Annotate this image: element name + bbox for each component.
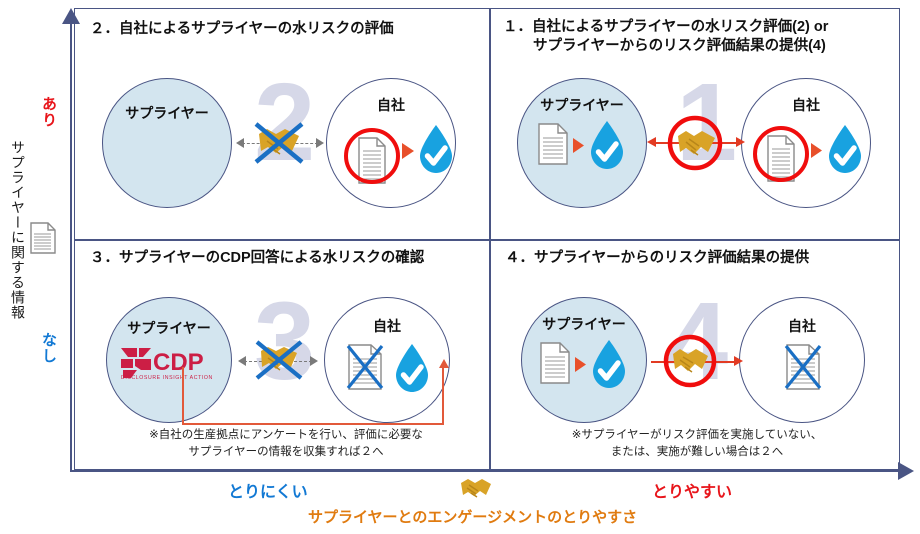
quadrant-2-supplier-circle[interactable]: サプライヤー xyxy=(102,78,232,208)
handshake-circled-icon xyxy=(661,334,719,395)
y-axis-line xyxy=(70,22,72,472)
quadrant-4-own-circle[interactable]: 自社 xyxy=(739,297,865,423)
quadrant-4-footnote-line-1: ※サプライヤーがリスク評価を実施していない、 xyxy=(511,427,883,444)
quadrant-1-title-line-2: サプライヤーからのリスク評価結果の提供(4) xyxy=(533,37,826,57)
quadrant-1-connector-arrow-left xyxy=(647,137,656,147)
quadrant-2-connector-arrow-left xyxy=(236,138,244,148)
handshake-icon xyxy=(456,474,496,511)
quadrant-1-title-line-1: １．自社によるサプライヤーの水リスク評価(2) or xyxy=(503,18,828,38)
quadrant-4-footnote-line-2: または、実施が難しい場合は２へ xyxy=(511,444,883,461)
water-drop-check-icon xyxy=(588,338,630,397)
quadrant-3-footnote-line-1: ※自社の生産拠点にアンケートを行い、評価に必要な xyxy=(100,427,472,444)
quadrant-3-footnote-line-2: サプライヤーの情報を収集すれば２へ xyxy=(100,444,472,461)
quadrant-4-supplier-label: サプライヤー xyxy=(522,314,646,334)
quadrant-3-callout-arrowhead-icon xyxy=(439,359,449,368)
quadrant-2-connector-arrow-right xyxy=(316,138,324,148)
water-drop-check-icon xyxy=(824,123,866,182)
quadrant-3-supplier-label: サプライヤー xyxy=(107,318,231,338)
quadrant-3-title: ３．サプライヤーのCDP回答による水リスクの確認 xyxy=(90,249,424,269)
quadrant-4-title: ４．サプライヤーからのリスク評価結果の提供 xyxy=(505,249,809,269)
quadrant-2-supplier-label: サプライヤー xyxy=(103,103,231,123)
document-icon xyxy=(30,222,56,259)
x-axis-line xyxy=(70,470,902,472)
quadrant-1-supplier-label: サプライヤー xyxy=(518,95,646,115)
document-icon xyxy=(538,123,568,170)
red-arrow-icon xyxy=(810,142,823,164)
quadrant-2-own-circle[interactable]: 自社 xyxy=(326,78,456,208)
x-axis-right-label: とりやすい xyxy=(652,478,732,502)
quadrant-1-supplier-circle[interactable]: サプライヤー xyxy=(517,78,647,208)
handshake-crossed-icon xyxy=(250,335,308,390)
quadrant-4-own-label: 自社 xyxy=(740,316,864,336)
quadrant-1-connector-arrow-right xyxy=(736,137,745,147)
quadrant-2-own-label: 自社 xyxy=(327,95,455,115)
quadrant-1[interactable]: １．自社によるサプライヤーの水リスク評価(2) or サプライヤーからのリスク評… xyxy=(491,10,899,238)
quadrant-3-callout-bracket xyxy=(182,367,444,425)
document-circled-icon xyxy=(343,125,401,190)
quadrant-2-title: ２．自社によるサプライヤーの水リスクの評価 xyxy=(90,20,394,40)
quadrant-1-own-label: 自社 xyxy=(742,95,870,115)
document-icon xyxy=(540,342,570,389)
red-arrow-icon xyxy=(574,356,587,378)
quadrant-4[interactable]: ４．サプライヤーからのリスク評価結果の提供 4 サプライヤー xyxy=(491,241,899,469)
quadrant-3[interactable]: ３．サプライヤーのCDP回答による水リスクの確認 3 サプライヤー CDP DI… xyxy=(76,241,488,469)
quadrant-4-supplier-circle[interactable]: サプライヤー xyxy=(521,297,647,423)
water-drop-check-icon xyxy=(415,123,457,182)
y-axis-low-label: なし xyxy=(38,332,59,364)
quadrant-1-own-circle[interactable]: 自社 xyxy=(741,78,871,208)
quadrant-3-own-label: 自社 xyxy=(325,316,449,336)
quadrant-4-connector-arrow-right xyxy=(734,356,743,366)
handshake-circled-icon xyxy=(664,115,726,178)
x-axis-arrowhead-icon xyxy=(898,462,914,480)
quadrant-3-connector-arrow-right xyxy=(310,356,318,366)
y-axis-title: サプライヤーに関する情報 xyxy=(8,140,28,320)
red-arrow-icon xyxy=(572,137,585,159)
x-axis-left-label: とりにくい xyxy=(228,478,308,502)
handshake-crossed-icon xyxy=(248,116,310,175)
red-arrow-icon xyxy=(401,142,415,165)
water-drop-check-icon xyxy=(586,119,628,178)
y-axis-high-label: あり xyxy=(38,96,59,128)
document-circled-icon xyxy=(752,123,810,188)
quadrant-2[interactable]: ２．自社によるサプライヤーの水リスクの評価 2 サプライヤー 自社 xyxy=(76,10,488,238)
document-crossed-icon xyxy=(783,342,823,397)
quadrant-3-connector-arrow-left xyxy=(238,356,246,366)
